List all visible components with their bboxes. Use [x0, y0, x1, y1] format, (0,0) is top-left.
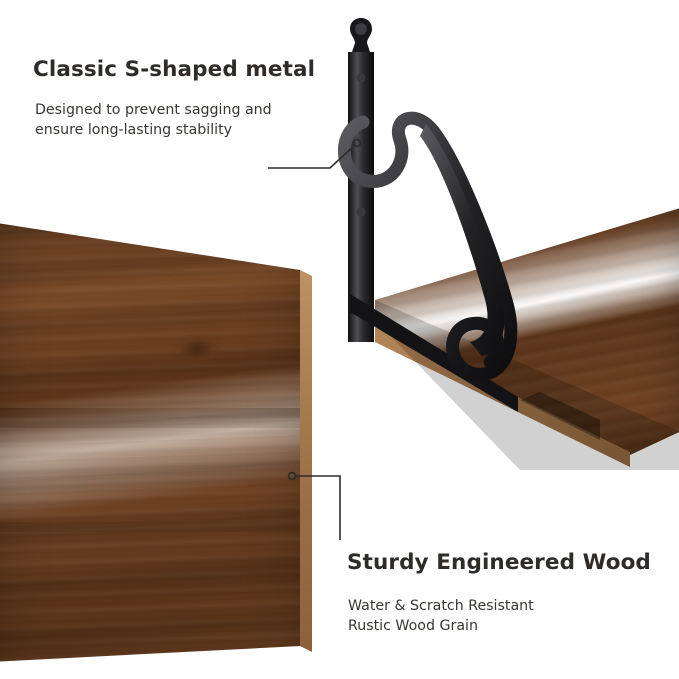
- feature-title-wood: Sturdy Engineered Wood: [347, 550, 651, 575]
- bottom-leader-line: [296, 476, 340, 540]
- feature-description-metal-line1: Designed to prevent sagging and: [35, 100, 315, 120]
- feature-description-wood-line2: Rustic Wood Grain: [348, 616, 638, 636]
- top-leader-line: [268, 145, 355, 168]
- bottom-leader-endpoint: [289, 473, 296, 480]
- product-feature-image: Classic S-shaped metal Designed to preve…: [0, 0, 679, 679]
- feature-description-wood-line1: Water & Scratch Resistant: [348, 596, 638, 616]
- feature-description-metal: Designed to prevent sagging and ensure l…: [35, 100, 315, 140]
- top-leader-endpoint: [354, 140, 361, 147]
- feature-title-metal: Classic S-shaped metal: [33, 57, 315, 82]
- feature-description-metal-line2: ensure long-lasting stability: [35, 120, 315, 140]
- feature-description-wood: Water & Scratch Resistant Rustic Wood Gr…: [348, 596, 638, 636]
